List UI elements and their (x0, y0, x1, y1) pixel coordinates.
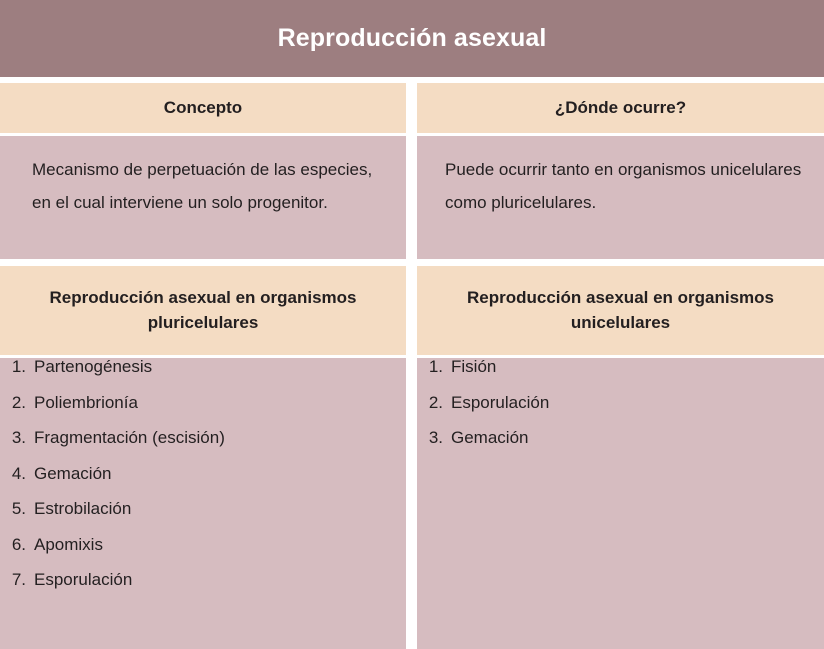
table-title-band: Reproducción asexual (0, 0, 824, 77)
list-item-label: Partenogénesis (34, 358, 152, 375)
list-item-number: 5. (0, 500, 26, 517)
list-item-label: Apomixis (34, 536, 103, 553)
concepto-paragraph: Mecanismo de perpetuación de las especie… (0, 136, 406, 219)
column-header-label: ¿Dónde ocurre? (555, 96, 686, 121)
list-item-number: 4. (0, 465, 26, 482)
page-title: Reproducción asexual (278, 24, 547, 53)
column-header-donde-ocurre: ¿Dónde ocurre? (417, 83, 824, 133)
list-item-label: Esporulación (451, 394, 549, 411)
list-item: 1.Partenogénesis (0, 358, 406, 375)
list-item: 3.Gemación (417, 429, 824, 446)
list-item-label: Esporulación (34, 571, 132, 588)
list-item-label: Gemación (34, 465, 111, 482)
column-header-label: Concepto (164, 96, 242, 121)
list-item-number: 1. (417, 358, 443, 375)
list-item: 6.Apomixis (0, 536, 406, 553)
list-item: 4.Gemación (0, 465, 406, 482)
list-item-number: 3. (0, 429, 26, 446)
unicelulares-list: 1.Fisión2.Esporulación3.Gemación (417, 358, 824, 446)
list-item-label: Gemación (451, 429, 528, 446)
column-header-concepto: Concepto (0, 83, 406, 133)
cell-unicelulares-body: 1.Fisión2.Esporulación3.Gemación (417, 358, 824, 649)
list-item-number: 3. (417, 429, 443, 446)
list-item-number: 2. (417, 394, 443, 411)
pluricelulares-list: 1.Partenogénesis2.Poliembrionía3.Fragmen… (0, 358, 406, 588)
list-item: 2.Esporulación (417, 394, 824, 411)
column-header-pluricelulares: Reproducción asexual en organismos pluri… (0, 266, 406, 355)
comparison-table: Reproducción asexual Concepto ¿Dónde ocu… (0, 0, 824, 649)
list-item: 1.Fisión (417, 358, 824, 375)
column-header-label: Reproducción asexual en organismos pluri… (14, 286, 392, 335)
list-item-number: 7. (0, 571, 26, 588)
cell-donde-ocurre-body: Puede ocurrir tanto en organismos unicel… (417, 136, 824, 259)
list-item-number: 1. (0, 358, 26, 375)
column-header-label: Reproducción asexual en organismos unice… (431, 286, 810, 335)
cell-pluricelulares-body: 1.Partenogénesis2.Poliembrionía3.Fragmen… (0, 358, 406, 649)
list-item: 5.Estrobilación (0, 500, 406, 517)
list-item-label: Fragmentación (escisión) (34, 429, 225, 446)
list-item-number: 2. (0, 394, 26, 411)
donde-ocurre-paragraph: Puede ocurrir tanto en organismos unicel… (417, 136, 824, 219)
list-item: 7.Esporulación (0, 571, 406, 588)
list-item-label: Estrobilación (34, 500, 131, 517)
column-header-unicelulares: Reproducción asexual en organismos unice… (417, 266, 824, 355)
list-item: 3.Fragmentación (escisión) (0, 429, 406, 446)
list-item-label: Poliembrionía (34, 394, 138, 411)
list-item-number: 6. (0, 536, 26, 553)
cell-concepto-body: Mecanismo de perpetuación de las especie… (0, 136, 406, 259)
list-item-label: Fisión (451, 358, 496, 375)
list-item: 2.Poliembrionía (0, 394, 406, 411)
